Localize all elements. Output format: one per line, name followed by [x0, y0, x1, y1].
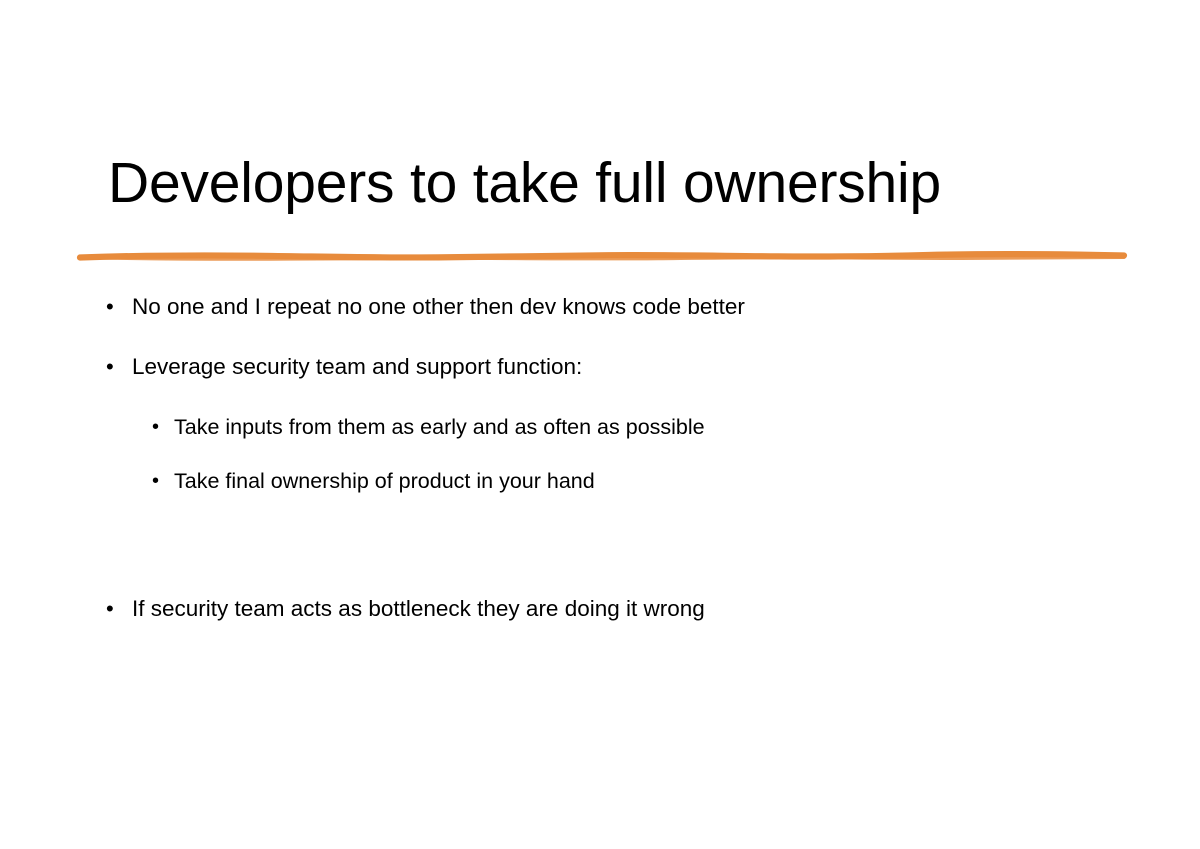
list-item-label: If security team acts as bottleneck they… — [132, 594, 705, 624]
title-underline-divider — [78, 238, 1126, 268]
list-item: • If security team acts as bottleneck th… — [0, 594, 1200, 654]
sub-list-item: • Take inputs from them as early and as … — [0, 412, 1200, 466]
body-content: • No one and I repeat no one other then … — [0, 292, 1200, 654]
sub-list-item-label: Take final ownership of product in your … — [174, 466, 595, 496]
bullet-marker-icon: • — [106, 594, 132, 624]
slide-canvas: Developers to take full ownership • No o… — [0, 0, 1200, 849]
page-title: Developers to take full ownership — [108, 152, 1108, 216]
bullet-marker-icon: • — [152, 466, 174, 496]
title-block: Developers to take full ownership — [108, 152, 1108, 216]
list-item-label: No one and I repeat no one other then de… — [132, 292, 745, 322]
list-item: • No one and I repeat no one other then … — [0, 292, 1200, 352]
sub-list-item-label: Take inputs from them as early and as of… — [174, 412, 705, 442]
list-item-label: Leverage security team and support funct… — [132, 352, 582, 382]
bullet-marker-icon: • — [152, 412, 174, 442]
hand-drawn-line-icon — [78, 238, 1126, 268]
list-item: • Leverage security team and support fun… — [0, 352, 1200, 412]
blank-list-line — [0, 520, 1200, 594]
bullet-marker-icon: • — [106, 292, 132, 322]
sub-list-item: • Take final ownership of product in you… — [0, 466, 1200, 520]
bullet-marker-icon: • — [106, 352, 132, 382]
